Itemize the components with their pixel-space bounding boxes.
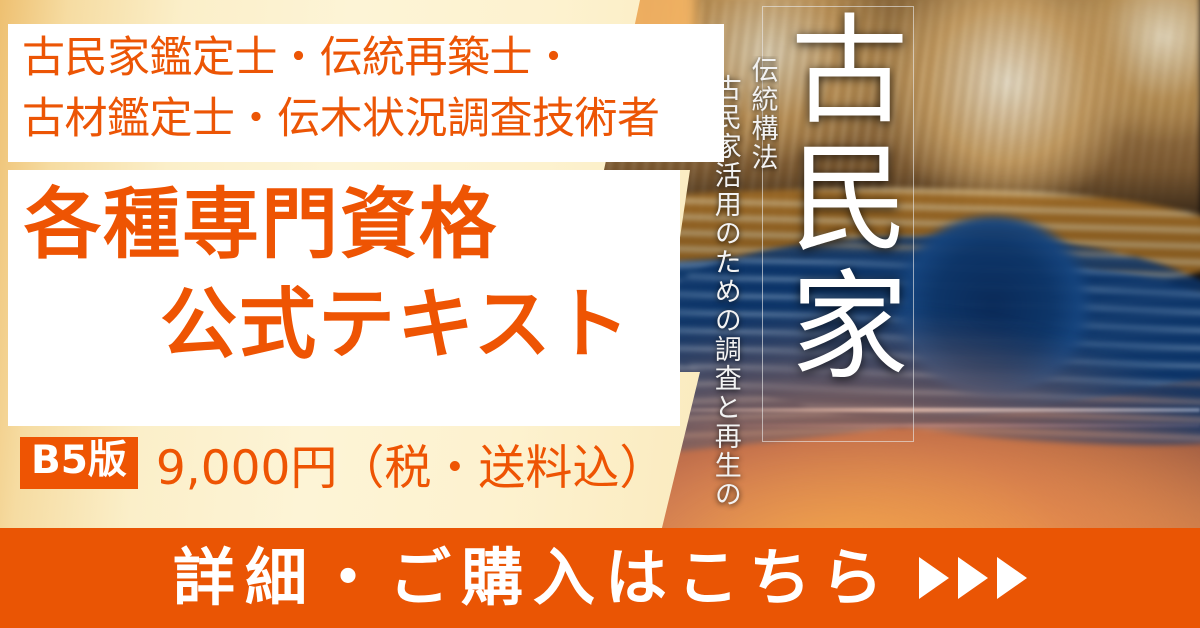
promotional-banner: 古民家 伝統構法 古民家活用のための調査と再生の 古民家鑑定士・伝統再築士・ 古… bbox=[0, 0, 1200, 628]
certifications-line-1: 古民家鑑定士・伝統再築士・ bbox=[18, 28, 724, 89]
price-row: B5版 9,000円（税・送料込） bbox=[20, 432, 666, 494]
cta-label: 詳細・ご購入はこちら bbox=[173, 547, 893, 609]
cta-arrows bbox=[919, 557, 1027, 599]
cover-title: 古民家 bbox=[770, 8, 908, 392]
play-arrow-icon-2 bbox=[958, 557, 988, 599]
cover-subtitle-line1: 伝統構法 bbox=[743, 56, 780, 526]
cta-bar[interactable]: 詳細・ご購入はこちら bbox=[0, 528, 1200, 628]
certifications-text: 古民家鑑定士・伝統再築士・ 古材鑑定士・伝木状況調査技術者 bbox=[18, 28, 724, 150]
price-text: 9,000円（税・送料込） bbox=[156, 429, 667, 498]
headline-line-2: 公式テキスト bbox=[0, 276, 672, 376]
headline-text: 各種専門資格 公式テキスト bbox=[0, 176, 672, 376]
play-arrow-icon-1 bbox=[919, 557, 949, 599]
headline-line-1: 各種専門資格 bbox=[0, 176, 672, 276]
play-arrow-icon-3 bbox=[997, 557, 1027, 599]
certifications-line-2: 古材鑑定士・伝木状況調査技術者 bbox=[18, 89, 724, 150]
format-badge: B5版 bbox=[20, 437, 138, 488]
